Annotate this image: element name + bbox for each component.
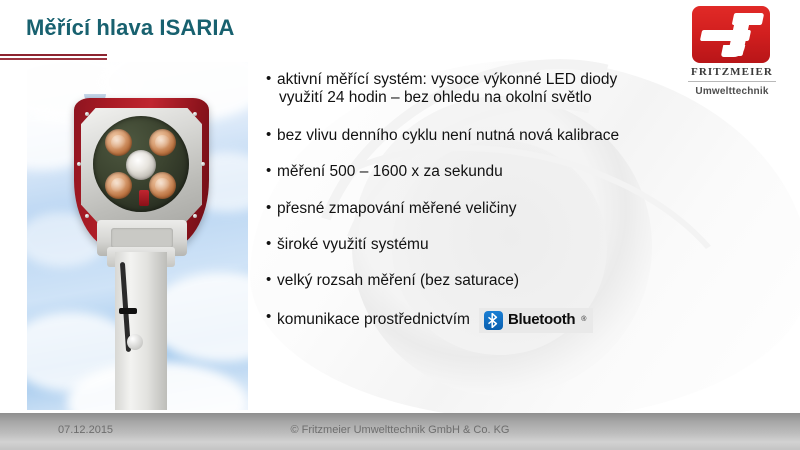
bullet-marker: • — [266, 235, 277, 254]
bullet-item: • široké využití systému — [266, 235, 736, 254]
product-photo — [27, 62, 248, 410]
led-lens — [105, 129, 132, 156]
bullet-marker: • — [266, 271, 277, 290]
cable-clamp — [119, 308, 137, 314]
bluetooth-registered-mark: ® — [581, 316, 586, 325]
bullet-text: aktivní měřící systém: vysoce výkonné LE… — [277, 70, 736, 89]
bullet-marker: • — [266, 199, 277, 218]
bullet-item-continuation: využití 24 hodin – bez ohledu na okolní … — [266, 88, 736, 107]
bluetooth-wordmark: Bluetooth — [508, 311, 575, 330]
bluetooth-icon — [484, 311, 503, 330]
led-lens — [149, 172, 176, 199]
bullet-text: bez vlivu denního cyklu není nutná nová … — [277, 126, 736, 145]
bullet-item: • bez vlivu denního cyklu není nutná nov… — [266, 126, 736, 145]
bullet-text: využití 24 hodin – bez ohledu na okolní … — [279, 88, 736, 107]
bullet-item: • aktivní měřící systém: vysoce výkonné … — [266, 70, 736, 89]
sensor-side-detail — [139, 190, 149, 206]
fritzmeier-f-mark-icon — [692, 6, 770, 63]
bullet-item: • velký rozsah měření (bez saturace) — [266, 271, 736, 290]
slide-footer: 07.12.2015 © Fritzmeier Umwelttechnik Gm… — [0, 413, 800, 450]
bullet-text: přesné zmapování měřené veličiny — [277, 199, 736, 218]
center-lens — [126, 150, 156, 180]
bullet-marker: • — [266, 308, 277, 327]
bullet-text: komunikace prostřednictvím — [277, 310, 470, 329]
bullet-text: měření 500 – 1600 x za sekundu — [277, 162, 736, 181]
bullet-marker: • — [266, 162, 277, 181]
bluetooth-logo: Bluetooth ® — [479, 308, 593, 333]
bullet-text: široké využití systému — [277, 235, 736, 254]
bullet-item: • přesné zmapování měřené veličiny — [266, 199, 736, 218]
pole-knob — [127, 334, 143, 350]
footer-page-number: 15 — [468, 424, 800, 436]
led-lens — [149, 129, 176, 156]
bullet-list: • aktivní měřící systém: vysoce výkonné … — [266, 70, 736, 350]
led-lens — [105, 172, 132, 199]
bullet-marker: • — [266, 126, 277, 145]
bullet-item: • měření 500 – 1600 x za sekundu — [266, 162, 736, 181]
page-title: Měřící hlava ISARIA — [26, 15, 235, 41]
bullet-text: velký rozsah měření (bez saturace) — [277, 271, 736, 290]
bullet-item: • komunikace prostřednictvím Bluetoot — [266, 308, 736, 333]
slide-canvas: Měřící hlava ISARIA FRITZMEIER Umwelttec… — [0, 0, 800, 450]
bullet-marker: • — [266, 70, 277, 89]
title-underline-rule — [0, 54, 107, 60]
